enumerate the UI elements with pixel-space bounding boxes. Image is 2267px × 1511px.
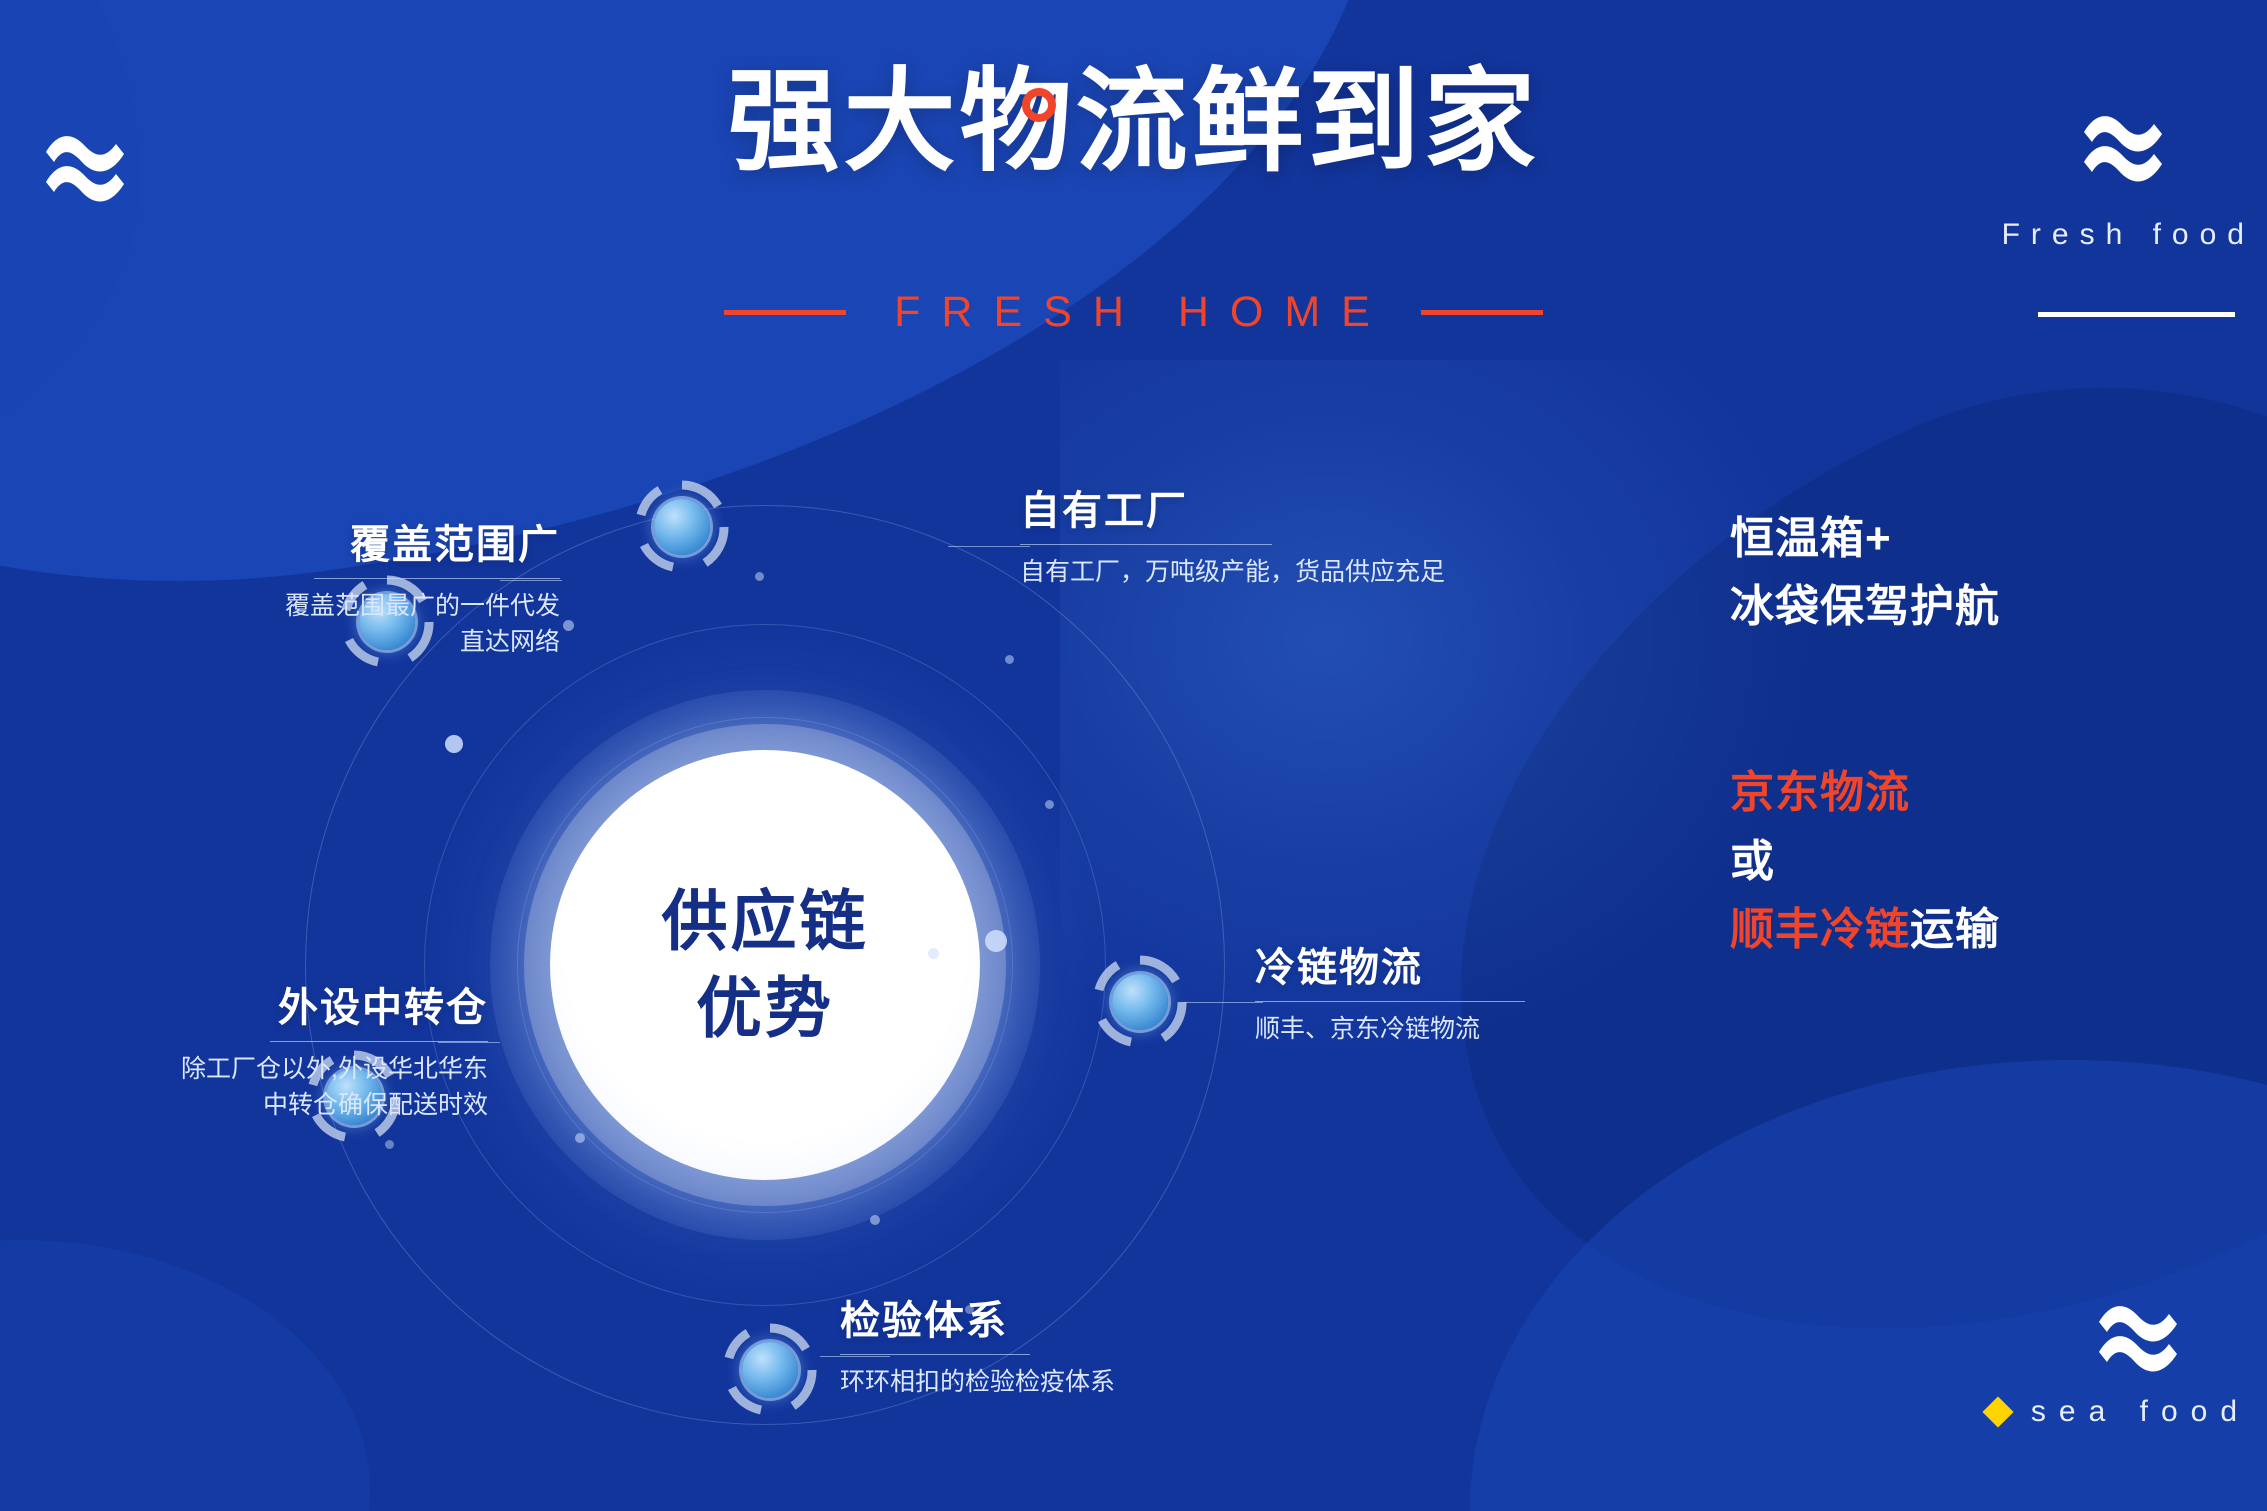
orbit-node-sphere xyxy=(654,499,710,555)
subtitle-rule-left xyxy=(724,310,846,315)
orbit-node-sphere xyxy=(742,1342,798,1398)
connector-cold-chain xyxy=(1185,1002,1263,1003)
side-line-4: 或 xyxy=(1730,828,2150,896)
node-title-coverage: 覆盖范围广 xyxy=(160,512,560,570)
node-desc-warehouse-line1: 除工厂仓以外,外设华北华东 xyxy=(88,1052,488,1088)
side-line-1: 恒温箱+ xyxy=(1730,505,2150,573)
orbit-dot xyxy=(985,930,1007,952)
side-line-2: 冰袋保驾护航 xyxy=(1730,573,2150,641)
brand-tagline-top-right: Fresh food xyxy=(1855,218,2255,252)
orbit-dot xyxy=(928,948,939,959)
node-rule-factory xyxy=(1020,544,1272,545)
node-label-factory: 自有工厂 自有工厂，万吨级产能，货品供应充足 xyxy=(1020,478,1490,591)
orbit-node-inspection[interactable] xyxy=(718,1318,822,1422)
wave-icon xyxy=(2095,1300,2181,1374)
orbit-node-sphere xyxy=(1112,974,1168,1030)
connector-factory xyxy=(948,546,1030,547)
side-line-5-highlight: 顺丰冷链 xyxy=(1730,905,1910,954)
page-subtitle: FRESH HOME xyxy=(876,288,1391,337)
node-label-warehouse: 外设中转仓 除工厂仓以外,外设华北华东 中转仓确保配送时效 xyxy=(88,975,488,1123)
node-desc-coverage-line1: 覆盖范围最广的一件代发 xyxy=(160,589,560,625)
node-title-cold-chain: 冷链物流 xyxy=(1255,935,1675,993)
poster-canvas: Fresh food sea food 强大物流鲜到家 FRESH HOME 供… xyxy=(0,0,2267,1511)
page-title: 强大物流鲜到家 xyxy=(0,62,2267,183)
orbit-dot xyxy=(563,620,574,631)
node-label-cold-chain: 冷链物流 顺丰、京东冷链物流 xyxy=(1255,935,1675,1048)
side-line-5: 顺丰冷链运输 xyxy=(1730,896,2150,964)
node-rule-coverage xyxy=(314,578,560,579)
node-desc-inspection: 环环相扣的检验检疫体系 xyxy=(840,1365,1320,1401)
orbit-dot xyxy=(1045,800,1054,809)
page-subtitle-row: FRESH HOME xyxy=(0,288,2267,337)
brand-tagline-bottom-right: sea food xyxy=(1780,1395,2250,1429)
node-label-inspection: 检验体系 环环相扣的检验检疫体系 xyxy=(840,1288,1320,1401)
side-line-3: 京东物流 xyxy=(1730,759,2150,827)
node-rule-inspection xyxy=(840,1354,1030,1355)
orbit-node-factory[interactable] xyxy=(630,475,734,579)
core-title-line2: 优势 xyxy=(696,965,834,1052)
orbit-dot xyxy=(755,572,764,581)
title-accent-circle-icon xyxy=(1022,88,1056,122)
node-desc-warehouse-line2: 中转仓确保配送时效 xyxy=(88,1088,488,1124)
diamond-icon xyxy=(1982,1396,2013,1427)
orbit-dot xyxy=(445,735,463,753)
node-desc-coverage-line2: 直达网络 xyxy=(160,625,560,661)
orbit-dot xyxy=(870,1215,880,1225)
node-title-inspection: 检验体系 xyxy=(840,1288,1320,1346)
orbit-node-cold-chain[interactable] xyxy=(1088,950,1192,1054)
core-circle: 供应链 优势 xyxy=(550,750,980,1180)
background-blob-bottom-right xyxy=(1470,1060,2267,1511)
side-panel: 恒温箱+ 冰袋保驾护航 京东物流 或 顺丰冷链运输 xyxy=(1730,505,2150,964)
side-spacer xyxy=(1730,641,2150,759)
node-title-factory: 自有工厂 xyxy=(1020,478,1490,536)
node-rule-warehouse xyxy=(270,1041,488,1042)
brand-tagline-bottom-right-label: sea food xyxy=(2031,1395,2250,1429)
node-title-warehouse: 外设中转仓 xyxy=(88,975,488,1033)
node-label-coverage: 覆盖范围广 覆盖范围最广的一件代发 直达网络 xyxy=(160,512,560,660)
node-rule-cold-chain xyxy=(1255,1001,1525,1002)
subtitle-rule-right xyxy=(1421,310,1543,315)
orbit-dot xyxy=(575,1133,585,1143)
node-desc-cold-chain: 顺丰、京东冷链物流 xyxy=(1255,1012,1675,1048)
node-desc-factory: 自有工厂，万吨级产能，货品供应充足 xyxy=(1020,555,1490,591)
side-line-5-suffix: 运输 xyxy=(1910,905,2000,954)
orbit-dot xyxy=(1005,655,1014,664)
core-title-line1: 供应链 xyxy=(662,878,869,965)
